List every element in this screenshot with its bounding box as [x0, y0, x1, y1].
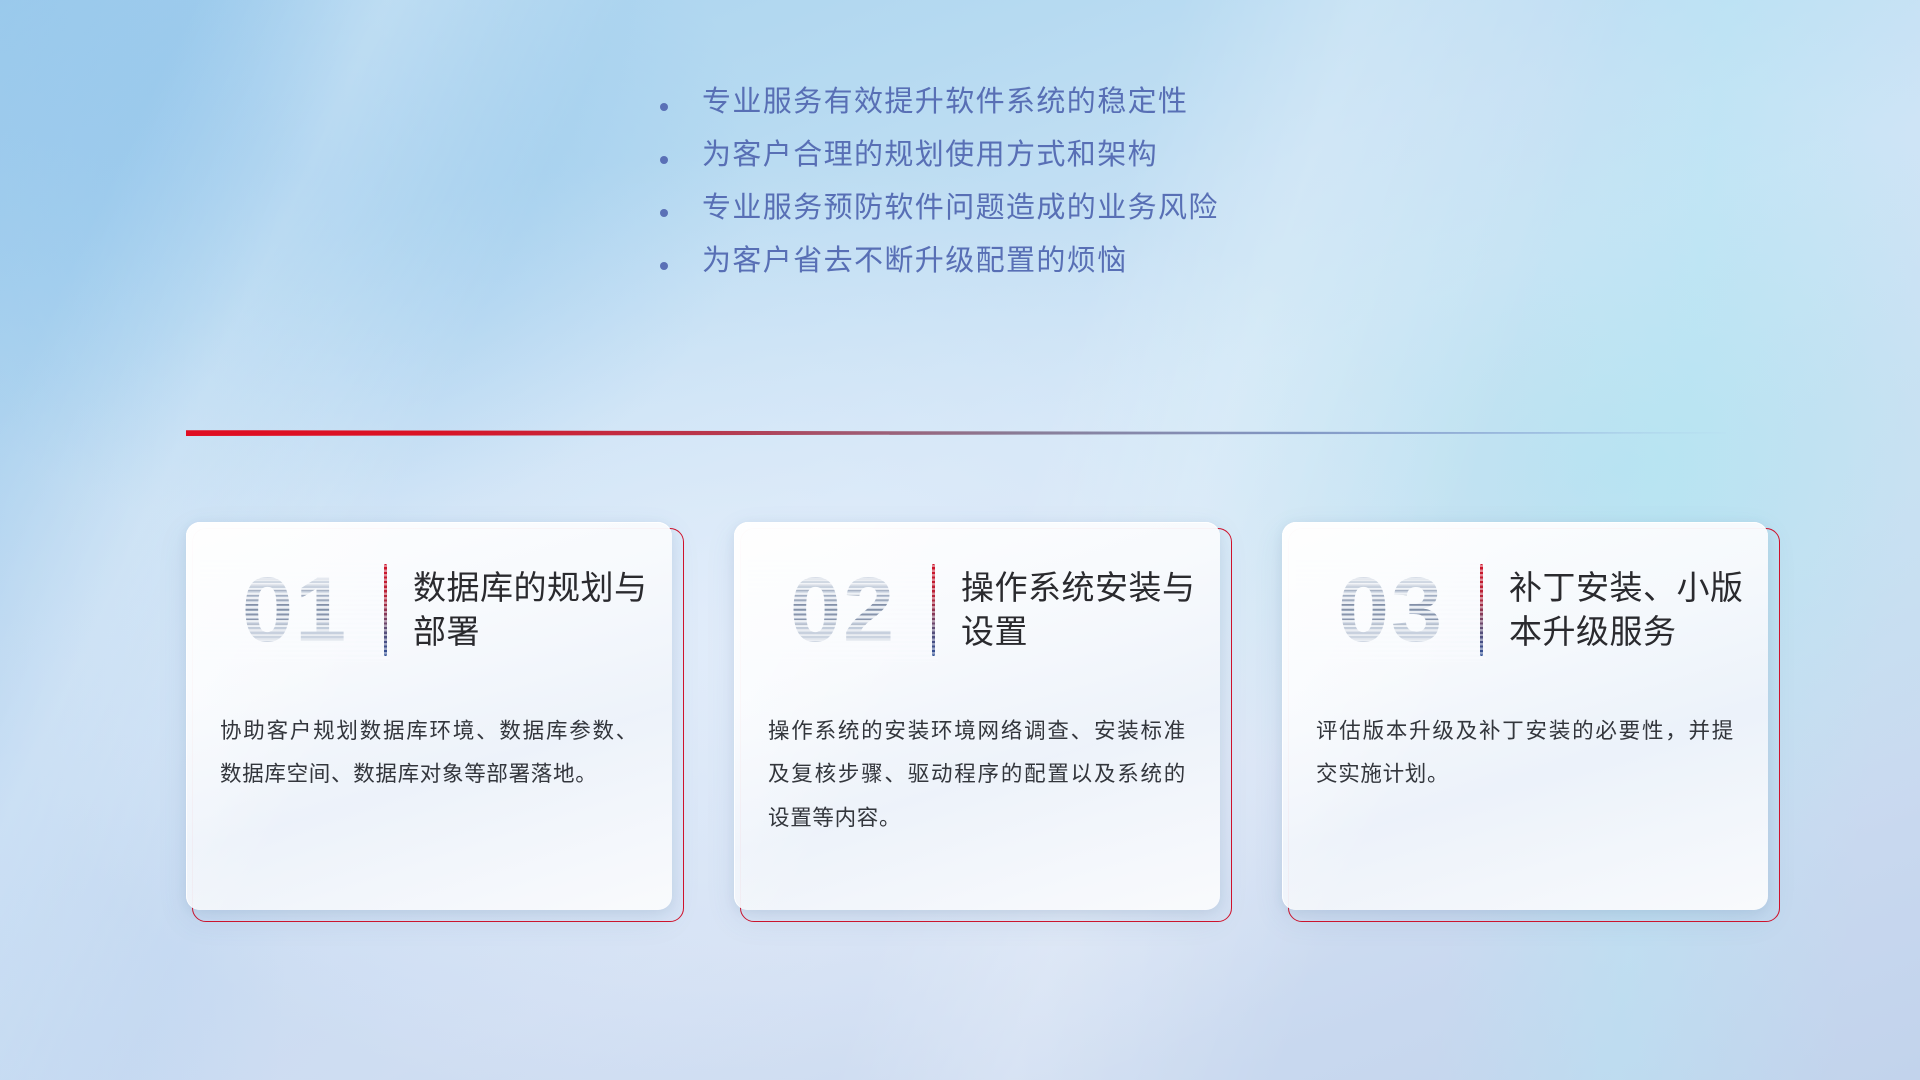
card-title: 数据库的规划与部署 — [413, 566, 651, 654]
card-accent-bar — [384, 564, 387, 656]
service-card[interactable]: 03 补丁安装、小版本升级服务 评估版本升级及补丁安装的必要性，并提交实施计划。 — [1282, 522, 1774, 916]
card-surface: 03 补丁安装、小版本升级服务 评估版本升级及补丁安装的必要性，并提交实施计划。 — [1282, 522, 1768, 910]
card-surface: 01 数据库的规划与部署 协助客户规划数据库环境、数据库参数、数据库空间、数据库… — [186, 522, 672, 910]
bullet-text: 为客户省去不断升级配置的烦恼 — [702, 247, 1128, 276]
slide-canvas: 专业服务有效提升软件系统的稳定性 为客户合理的规划使用方式和架构 专业服务预防软… — [0, 0, 1920, 1080]
bullet-text: 专业服务有效提升软件系统的稳定性 — [702, 88, 1188, 117]
service-card-list: 01 数据库的规划与部署 协助客户规划数据库环境、数据库参数、数据库空间、数据库… — [186, 522, 1786, 922]
list-item: 为客户省去不断升级配置的烦恼 — [660, 247, 1219, 276]
section-divider — [186, 428, 1726, 438]
bullet-text: 专业服务预防软件问题造成的业务风险 — [702, 194, 1219, 223]
service-card[interactable]: 01 数据库的规划与部署 协助客户规划数据库环境、数据库参数、数据库空间、数据库… — [186, 522, 678, 916]
list-item: 专业服务预防软件问题造成的业务风险 — [660, 194, 1219, 223]
benefits-bullet-list: 专业服务有效提升软件系统的稳定性 为客户合理的规划使用方式和架构 专业服务预防软… — [660, 88, 1219, 300]
bullet-dot-icon — [660, 209, 668, 217]
card-surface: 02 操作系统安装与设置 操作系统的安装环境网络调查、安装标准及复核步骤、驱动程… — [734, 522, 1220, 910]
card-header: 01 数据库的规划与部署 — [186, 544, 672, 676]
card-description: 评估版本升级及补丁安装的必要性，并提交实施计划。 — [1316, 710, 1734, 797]
bullet-text: 为客户合理的规划使用方式和架构 — [702, 141, 1158, 170]
card-header: 02 操作系统安装与设置 — [734, 544, 1220, 676]
card-accent-bar — [1480, 564, 1483, 656]
card-title: 补丁安装、小版本升级服务 — [1509, 566, 1747, 654]
bullet-dot-icon — [660, 262, 668, 270]
list-item: 为客户合理的规划使用方式和架构 — [660, 141, 1219, 170]
card-description: 操作系统的安装环境网络调查、安装标准及复核步骤、驱动程序的配置以及系统的设置等内… — [768, 710, 1186, 840]
card-number: 02 — [758, 564, 928, 656]
bullet-dot-icon — [660, 156, 668, 164]
list-item: 专业服务有效提升软件系统的稳定性 — [660, 88, 1219, 117]
service-card[interactable]: 02 操作系统安装与设置 操作系统的安装环境网络调查、安装标准及复核步骤、驱动程… — [734, 522, 1226, 916]
card-number: 01 — [210, 564, 380, 656]
bullet-dot-icon — [660, 103, 668, 111]
card-number: 03 — [1306, 564, 1476, 656]
card-description: 协助客户规划数据库环境、数据库参数、数据库空间、数据库对象等部署落地。 — [220, 710, 638, 797]
card-accent-bar — [932, 564, 935, 656]
card-header: 03 补丁安装、小版本升级服务 — [1282, 544, 1768, 676]
card-title: 操作系统安装与设置 — [961, 566, 1199, 654]
